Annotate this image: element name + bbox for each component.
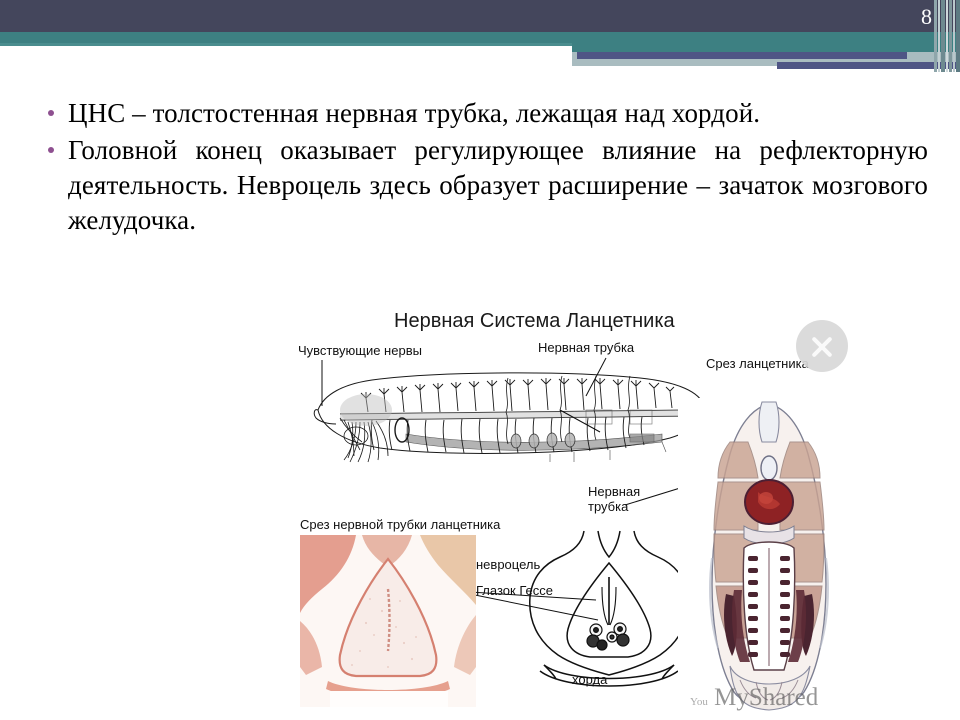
slide-header: 8 [0,0,960,72]
header-teal-right-extension [572,43,960,52]
header-vertical-stripes [934,0,960,72]
slide-body-text: ЦНС – толстостенная нервная трубка, лежа… [48,96,928,240]
bullet-dot-icon [48,133,68,153]
watermark-small-text: You [690,696,708,708]
watermark-text: MyShared [714,684,818,711]
label-neural-tube-side: Нервная трубка [588,485,652,515]
bullet-text-1: ЦНС – толстостенная нервная трубка, лежа… [68,96,760,131]
close-icon[interactable] [796,320,848,372]
header-decor-bar-2 [777,62,960,69]
lancelet-cross-section-image [678,398,860,716]
watermark: You MyShared [690,684,818,712]
lancelet-nervous-system-drawing [310,358,710,483]
label-neural-tube-section: Срез нервной трубки ланцетника [300,517,500,532]
label-sensory-nerves: Чувствующие нервы [298,343,422,358]
header-teal-band [0,32,960,43]
header-decor-bar-1 [577,52,907,59]
neural-tube-schematic-diagram [524,525,694,705]
header-navy-band [0,0,960,32]
figure-title: Нервная Система Ланцетника [394,310,675,333]
label-neural-tube-top: Нервная трубка [538,340,634,355]
header-white-left [0,46,572,72]
bullet-dot-icon [48,96,68,116]
page-number: 8 [921,4,932,30]
bullet-text-2: Головной конец оказывает регулирующее вл… [68,133,928,238]
label-lancelet-section: Срез ланцетника [706,356,809,371]
bullet-item-1: ЦНС – толстостенная нервная трубка, лежа… [48,96,928,131]
bullet-item-2: Головной конец оказывает регулирующее вл… [48,133,928,238]
neural-tube-histology-image [300,535,476,707]
